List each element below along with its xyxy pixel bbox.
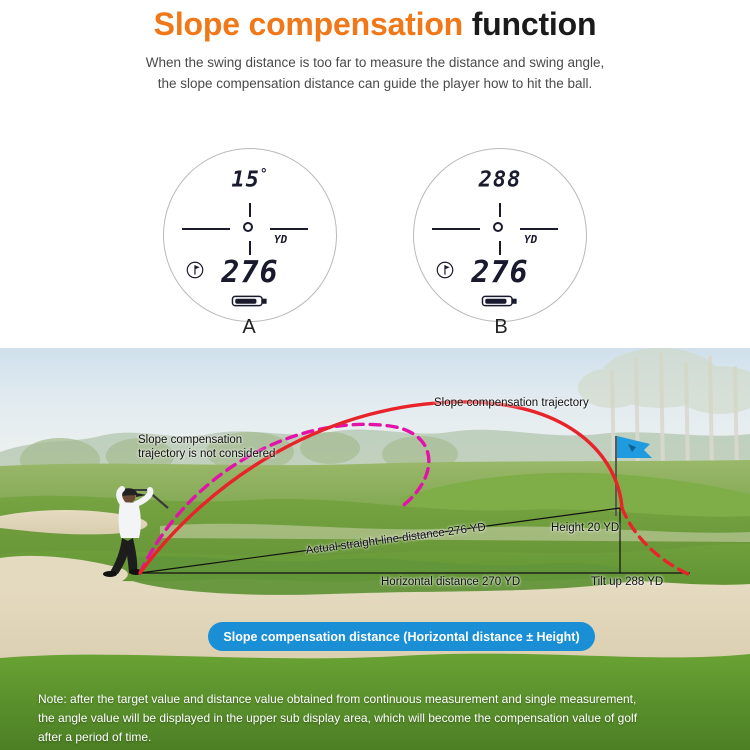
note-line1: Note: after the target value and distanc… — [38, 690, 718, 709]
header-section: Slope compensation function When the swi… — [0, 0, 750, 348]
note-text: Note: after the target value and distanc… — [38, 690, 718, 747]
crosshair-line-left — [182, 228, 230, 230]
lcd-display-b: 288 YD 276 — [413, 148, 587, 322]
lcd-b-unit-label: YD — [524, 233, 537, 246]
annotation-compensation-trajectory: Slope compensation trajectory — [434, 396, 589, 410]
lcd-b-angle-value: 288 — [414, 167, 586, 192]
page-title: Slope compensation function — [0, 6, 750, 43]
lcd-a-unit-label: YD — [274, 233, 287, 246]
crosshair-line-bottom — [249, 241, 251, 255]
crosshair-line-bottom — [499, 241, 501, 255]
display-label-a: A — [219, 316, 279, 339]
slope-compensation-banner: Slope compensation distance (Horizontal … — [208, 622, 595, 651]
crosshair-center-dot — [243, 222, 253, 232]
display-label-b: B — [471, 316, 531, 339]
lcd-a-crosshair: YD — [178, 206, 322, 252]
battery-icon — [231, 295, 269, 307]
annotation-not-considered-line2: trajectory is not considered — [138, 447, 275, 461]
annotation-not-considered: Slope compensation trajectory is not con… — [138, 433, 275, 461]
note-line2: the angle value will be displayed in the… — [38, 709, 718, 728]
page-subtitle-line1: When the swing distance is too far to me… — [0, 52, 750, 73]
lcd-b-crosshair: YD — [428, 206, 572, 252]
annotation-tilt-up: Tilt up 288 YD — [591, 575, 663, 589]
crosshair-center-dot — [493, 222, 503, 232]
page-subtitle-line2: the slope compensation distance can guid… — [0, 73, 750, 94]
slope-flag-icon — [436, 261, 454, 279]
degree-symbol: ° — [260, 167, 269, 182]
crosshair-line-right — [270, 228, 308, 230]
crosshair-line-top — [249, 203, 251, 217]
annotation-horizontal-distance: Horizontal distance 270 YD — [381, 575, 520, 589]
annotation-not-considered-line1: Slope compensation — [138, 433, 275, 447]
crosshair-line-left — [432, 228, 480, 230]
lcd-a-angle-value: 15° — [164, 167, 336, 192]
crosshair-line-top — [499, 203, 501, 217]
slope-compensation-infographic: Slope compensation function When the swi… — [0, 0, 750, 750]
page-title-highlight: Slope compensation — [154, 6, 463, 42]
battery-icon — [481, 295, 519, 307]
lcd-display-a: 15° YD 276 — [163, 148, 337, 322]
page-subtitle: When the swing distance is too far to me… — [0, 52, 750, 94]
note-line3: after a period of time. — [38, 728, 718, 747]
slope-flag-icon — [186, 261, 204, 279]
annotation-height: Height 20 YD — [551, 521, 619, 535]
crosshair-line-right — [520, 228, 558, 230]
page-title-rest: function — [472, 6, 597, 42]
